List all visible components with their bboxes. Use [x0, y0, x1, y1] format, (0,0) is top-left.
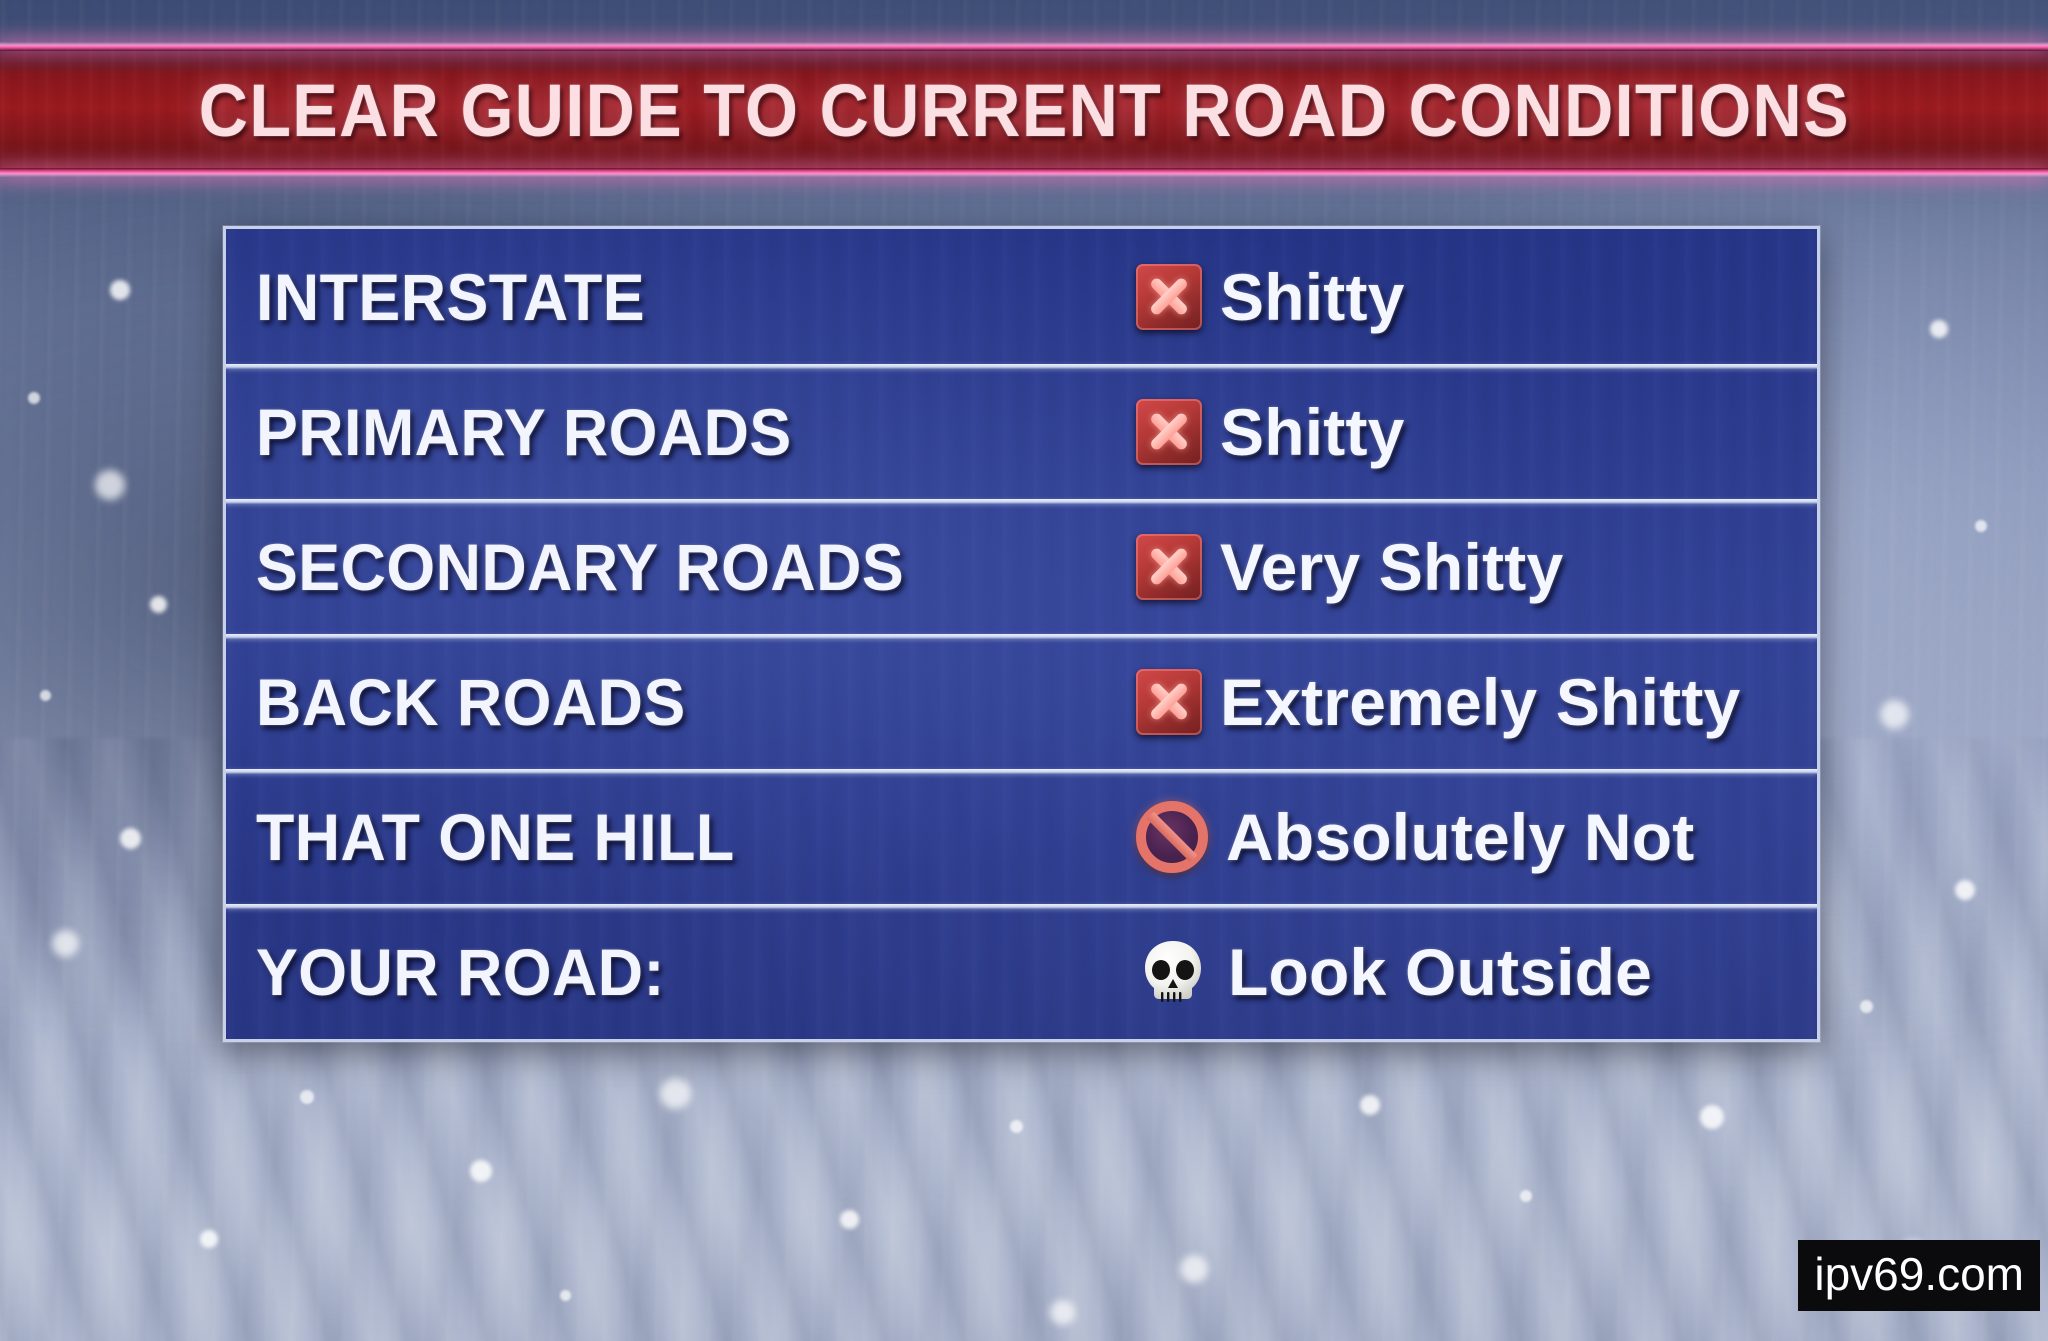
road-type-label: BACK ROADS: [256, 664, 921, 740]
condition-text: Shitty: [1220, 259, 1405, 335]
table-row: YOUR ROAD:: [226, 904, 1817, 1039]
table-row: BACK ROADS Extremely Shitty: [226, 634, 1817, 769]
condition-text: Extremely Shitty: [1220, 664, 1740, 740]
banner-glow-line-bottom: [0, 168, 2048, 177]
road-type-label: INTERSTATE: [256, 259, 921, 335]
condition-text: Look Outside: [1228, 934, 1652, 1010]
banner-glow-line-top: [0, 42, 2048, 51]
road-type-label: SECONDARY ROADS: [256, 529, 921, 605]
table-row: THAT ONE HILL Absolutely Not: [226, 769, 1817, 904]
table-body: INTERSTATE Shitty PRIMARY ROADS Shitty S…: [226, 229, 1817, 1039]
condition-cell: Very Shitty: [956, 529, 1795, 605]
condition-cell: Shitty: [956, 259, 1795, 335]
table-row: SECONDARY ROADS Very Shitty: [226, 499, 1817, 634]
prohibition-icon: [1136, 801, 1208, 873]
condition-text: Shitty: [1220, 394, 1405, 470]
red-x-icon: [1136, 399, 1202, 465]
road-conditions-table: INTERSTATE Shitty PRIMARY ROADS Shitty S…: [223, 226, 1820, 1042]
red-x-icon: [1136, 534, 1202, 600]
road-type-label: THAT ONE HILL: [256, 799, 921, 875]
red-x-icon: [1136, 669, 1202, 735]
watermark: ipv69.com: [1798, 1240, 2040, 1311]
road-type-label: PRIMARY ROADS: [256, 394, 921, 470]
page-title: CLEAR GUIDE TO CURRENT ROAD CONDITIONS: [198, 68, 1849, 153]
title-banner: CLEAR GUIDE TO CURRENT ROAD CONDITIONS: [0, 47, 2048, 173]
condition-cell: Absolutely Not: [956, 799, 1795, 875]
red-x-icon: [1136, 264, 1202, 330]
screenshot-root: CLEAR GUIDE TO CURRENT ROAD CONDITIONS I…: [0, 0, 2048, 1341]
condition-text: Very Shitty: [1220, 529, 1563, 605]
skull-icon: [1136, 935, 1210, 1009]
condition-cell: Extremely Shitty: [956, 664, 1795, 740]
road-type-label: YOUR ROAD:: [256, 934, 921, 1010]
condition-cell: Shitty: [956, 394, 1795, 470]
condition-text: Absolutely Not: [1226, 799, 1694, 875]
table-row: INTERSTATE Shitty: [226, 229, 1817, 364]
table-row: PRIMARY ROADS Shitty: [226, 364, 1817, 499]
condition-cell: Look Outside: [956, 934, 1795, 1010]
